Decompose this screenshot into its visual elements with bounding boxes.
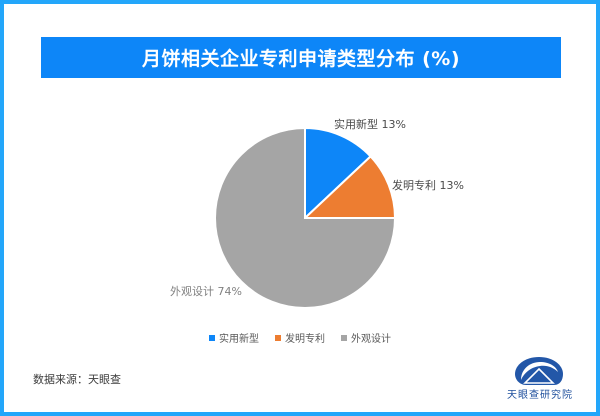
legend-item-appearance-design[interactable]: 外观设计	[341, 330, 391, 345]
title-banner: 月饼相关企业专利申请类型分布 (%)	[41, 37, 561, 78]
legend-label: 实用新型	[219, 330, 259, 345]
tianyancha-swoosh-logo-icon	[513, 356, 565, 386]
legend-label: 外观设计	[351, 330, 391, 345]
legend-swatch-icon	[275, 335, 281, 341]
legend-item-utility-model[interactable]: 实用新型	[209, 330, 259, 345]
pie-chart	[215, 128, 395, 308]
legend-swatch-icon	[209, 335, 215, 341]
data-label-invention-patent: 发明专利 13%	[392, 177, 464, 193]
pie-svg	[215, 128, 395, 308]
legend-label: 发明专利	[285, 330, 325, 345]
data-source-text: 数据来源：天眼查	[33, 371, 121, 387]
chart-canvas: 月饼相关企业专利申请类型分布 (%) 实用新型 13% 发明专利 13% 外观设…	[0, 0, 600, 416]
data-label-utility-model: 实用新型 13%	[334, 116, 406, 132]
logo-svg	[513, 356, 565, 386]
page-title: 月饼相关企业专利申请类型分布 (%)	[142, 44, 460, 71]
brand-logo: 天眼查研究院	[497, 356, 583, 402]
legend-item-invention-patent[interactable]: 发明专利	[275, 330, 325, 345]
chart-legend: 实用新型 发明专利 外观设计	[0, 330, 600, 345]
pie-chart-area: 实用新型 13% 发明专利 13% 外观设计 74%	[0, 88, 600, 328]
legend-swatch-icon	[341, 335, 347, 341]
data-label-appearance-design: 外观设计 74%	[170, 283, 242, 299]
brand-logo-text: 天眼查研究院	[497, 386, 583, 401]
